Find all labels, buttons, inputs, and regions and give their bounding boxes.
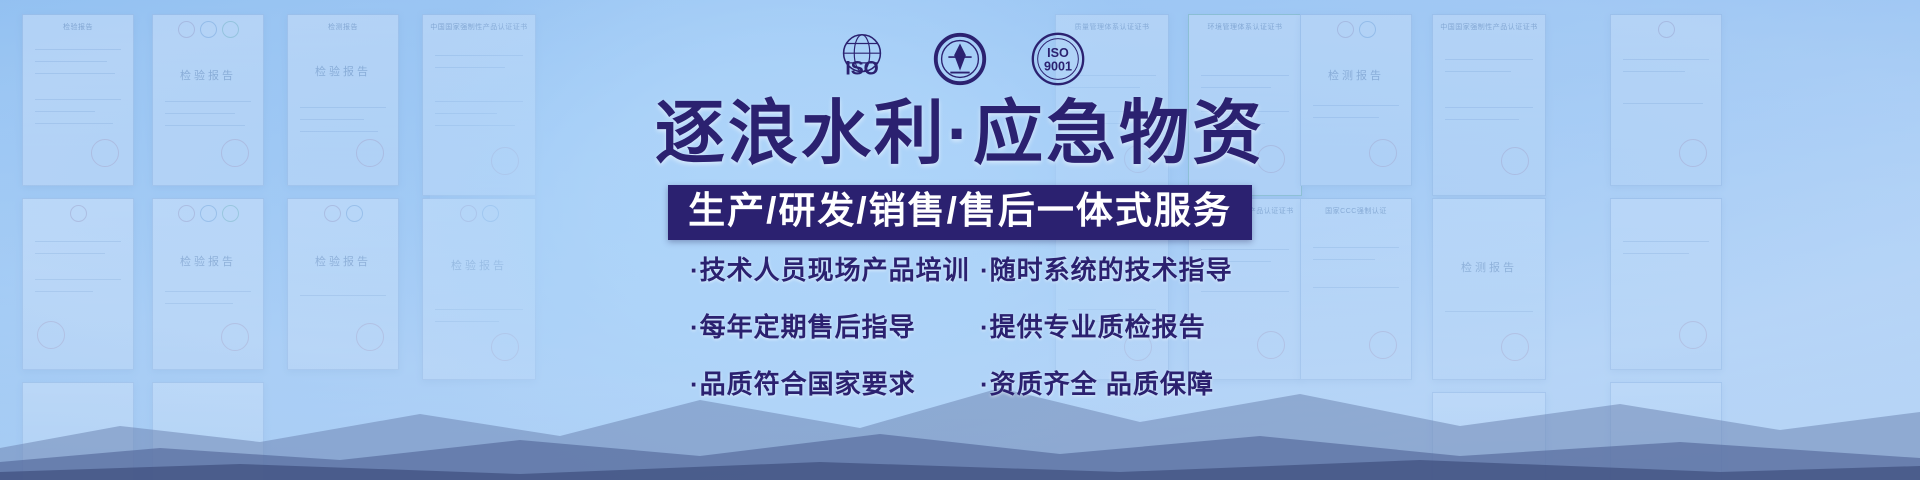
bullet-item: ·每年定期售后指导 [690,307,960,344]
promo-banner: 检验报告 检验报告 检测报告 检验报告 [0,0,1920,480]
bullet-item: ·技术人员现场产品培训 [690,250,960,287]
banner-content: 逐浪水利·应急物资 生产/研发/销售/售后一体式服务 ·技术人员现场产品培训 ·… [0,0,1920,480]
headline: 逐浪水利·应急物资 [0,98,1920,168]
bullet-item: ·品质符合国家要求 [690,364,960,401]
feature-bullets: ·技术人员现场产品培训 ·随时系统的技术指导 ·每年定期售后指导 ·提供专业质检… [0,250,1920,401]
bullet-item: ·资质齐全 品质保障 [980,364,1230,401]
bullet-item: ·随时系统的技术指导 [980,250,1230,287]
bullet-row: ·每年定期售后指导 ·提供专业质检报告 [690,307,1230,344]
subtitle-wrap: 生产/研发/销售/售后一体式服务 [0,185,1920,240]
bullet-item: ·提供专业质检报告 [980,307,1230,344]
bullet-row: ·品质符合国家要求 ·资质齐全 品质保障 [690,364,1230,401]
subtitle-bar: 生产/研发/销售/售后一体式服务 [668,185,1252,240]
bullet-row: ·技术人员现场产品培训 ·随时系统的技术指导 [690,250,1230,287]
